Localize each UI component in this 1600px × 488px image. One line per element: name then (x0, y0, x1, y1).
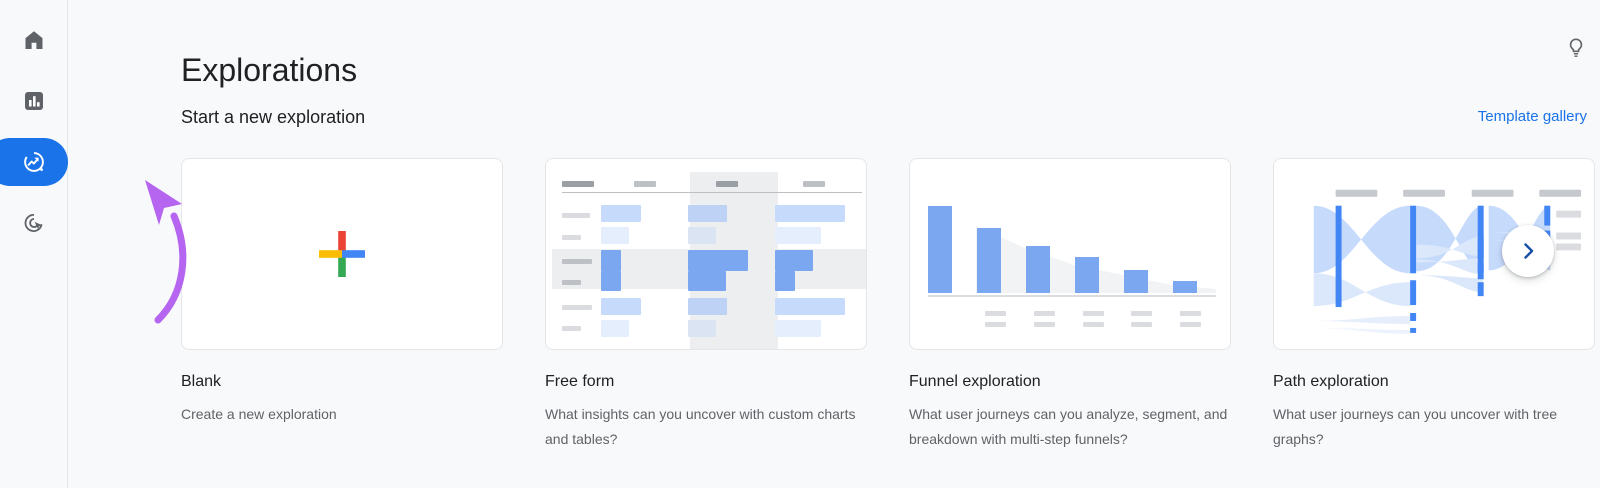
funnel-bar (1075, 257, 1099, 293)
sankey-node-labels (1556, 211, 1581, 251)
home-icon (22, 28, 46, 52)
axis-tick-label (1034, 322, 1055, 327)
table-cell-bar (688, 227, 716, 244)
funnel-bar (1173, 281, 1197, 293)
axis-tick-label (1180, 322, 1201, 327)
carousel-next-button[interactable] (1502, 225, 1554, 277)
chevron-right-icon (1516, 239, 1540, 263)
column-header (803, 181, 825, 187)
card-funnel-exploration[interactable]: Funnel exploration What user journeys ca… (909, 158, 1231, 452)
table-cell-bar (688, 205, 727, 222)
column-header (634, 181, 656, 187)
funnel-bar (1124, 270, 1148, 293)
axis-tick-label (1131, 311, 1152, 316)
card-title: Path exploration (1273, 372, 1595, 392)
table-cell-bar (688, 320, 716, 337)
row-label (562, 326, 581, 331)
row-label (562, 280, 581, 285)
table-cell-bar (775, 250, 813, 271)
explorations-page: Explorations Start a new exploration Tem… (0, 0, 1600, 488)
card-title: Blank (181, 372, 503, 392)
funnel-bar (1026, 246, 1050, 293)
funnel-bars-preview (910, 159, 1230, 349)
card-description: What insights can you uncover with custo… (545, 402, 867, 452)
left-sidebar (0, 0, 68, 488)
sankey-column-labels (1336, 190, 1581, 197)
card-description: What user journeys can you analyze, segm… (909, 402, 1231, 452)
card-description: Create a new exploration (181, 402, 503, 427)
column-header (562, 181, 594, 187)
sidebar-item-reports[interactable] (0, 77, 68, 125)
column-header (716, 181, 738, 187)
card-title: Funnel exploration (909, 372, 1231, 392)
card-blank[interactable]: Blank Create a new exploration (181, 158, 503, 427)
funnel-bar (977, 228, 1001, 293)
card-path-exploration[interactable]: Path exploration What user journeys can … (1273, 158, 1595, 452)
row-label (562, 305, 592, 310)
insights-button[interactable] (1556, 28, 1596, 68)
google-plus-icon (314, 226, 370, 282)
funnel-axis (928, 295, 1216, 297)
explore-insights-icon (22, 150, 46, 174)
axis-tick-label (1034, 311, 1055, 316)
table-cell-bar (775, 298, 845, 315)
card-funnel-thumbnail[interactable] (909, 158, 1231, 350)
lightbulb-icon (1564, 36, 1588, 60)
table-cell-bar (601, 250, 621, 271)
axis-tick-label (985, 322, 1006, 327)
page-title: Explorations (181, 48, 357, 92)
card-blank-thumbnail[interactable] (181, 158, 503, 350)
table-cell-bar (601, 271, 621, 291)
axis-tick-label (985, 311, 1006, 316)
bar-chart-icon (22, 89, 46, 113)
main-content: Explorations Start a new exploration Tem… (68, 0, 1600, 488)
row-label (562, 213, 590, 218)
table-cell-bar (601, 298, 641, 315)
axis-tick-label (1180, 311, 1201, 316)
table-cell-bar (601, 205, 641, 222)
table-cell-bar (775, 271, 795, 291)
header-divider (562, 192, 862, 193)
row-label (562, 259, 592, 264)
axis-tick-label (1083, 311, 1104, 316)
card-title: Free form (545, 372, 867, 392)
sidebar-item-home[interactable] (0, 16, 68, 64)
table-cell-bar (601, 320, 629, 337)
axis-tick-label (1083, 322, 1104, 327)
axis-tick-label (1131, 322, 1152, 327)
table-heatmap-preview (546, 159, 866, 349)
card-free-form[interactable]: Free form What insights can you uncover … (545, 158, 867, 452)
table-cell-bar (688, 298, 727, 315)
exploration-template-cards: Blank Create a new exploration (181, 158, 1600, 458)
table-cell-bar (775, 227, 821, 244)
advertising-target-cursor-icon (22, 211, 46, 235)
table-cell-bar (775, 205, 845, 222)
card-description: What user journeys can you uncover with … (1273, 402, 1595, 452)
funnel-bar (928, 206, 952, 293)
template-gallery-link[interactable]: Template gallery (1478, 104, 1587, 130)
section-title: Start a new exploration (181, 103, 365, 131)
card-free-form-thumbnail[interactable] (545, 158, 867, 350)
table-cell-bar (601, 227, 629, 244)
row-label (562, 235, 581, 240)
sidebar-item-advertising[interactable] (0, 199, 68, 247)
sidebar-item-explore[interactable] (0, 138, 68, 186)
table-cell-bar (688, 250, 748, 271)
section-header: Start a new exploration Template gallery (181, 103, 1587, 131)
table-cell-bar (775, 320, 821, 337)
table-cell-bar (688, 271, 726, 291)
